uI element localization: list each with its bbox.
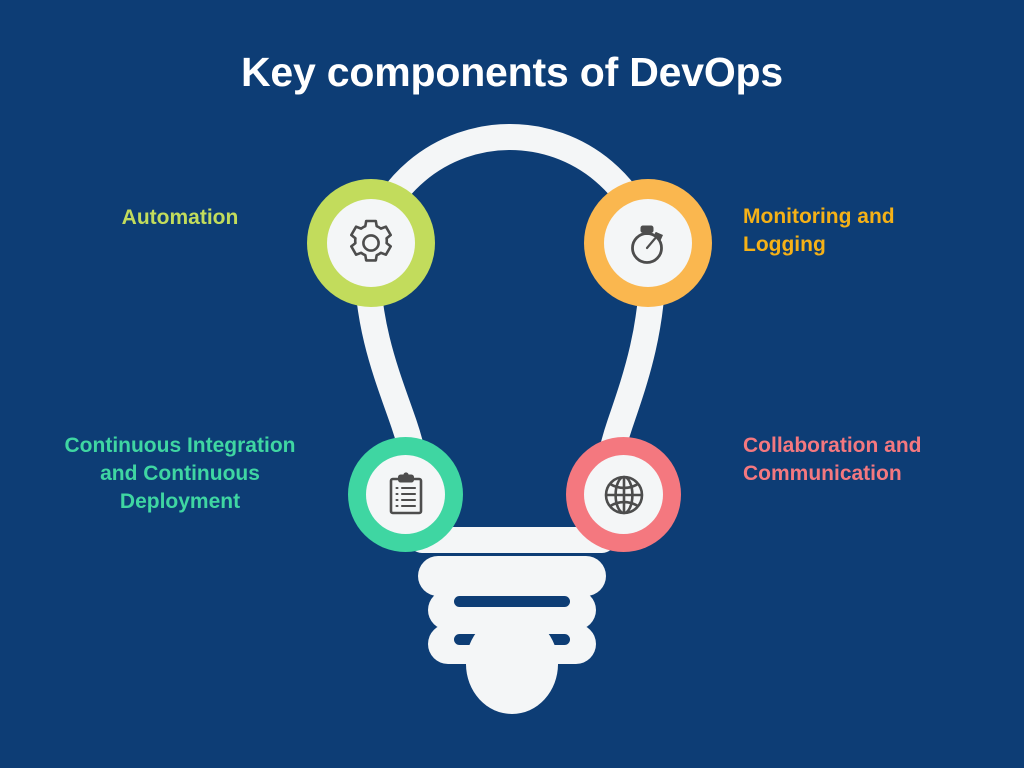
lightbulb-graphic [0,0,1024,768]
bulb-base [418,556,606,714]
clipboard-checklist-icon [383,472,429,518]
node-automation-disc [327,199,415,287]
node-monitoring-disc [604,199,692,287]
devops-infographic: Key components of DevOps [0,0,1024,768]
label-automation: Automation [60,204,300,232]
label-cicd: Continuous Integration and Continuous De… [60,432,300,516]
node-cicd-disc [366,455,445,534]
node-collaboration[interactable] [566,437,681,552]
globe-icon [600,471,648,519]
label-collaboration: Collaboration and Communication [743,432,978,488]
node-automation[interactable] [307,179,435,307]
node-collaboration-disc [584,455,663,534]
label-monitoring: Monitoring and Logging [743,203,968,259]
node-cicd[interactable] [348,437,463,552]
gear-icon [345,217,397,269]
node-monitoring[interactable] [584,179,712,307]
stopwatch-icon [622,217,674,269]
